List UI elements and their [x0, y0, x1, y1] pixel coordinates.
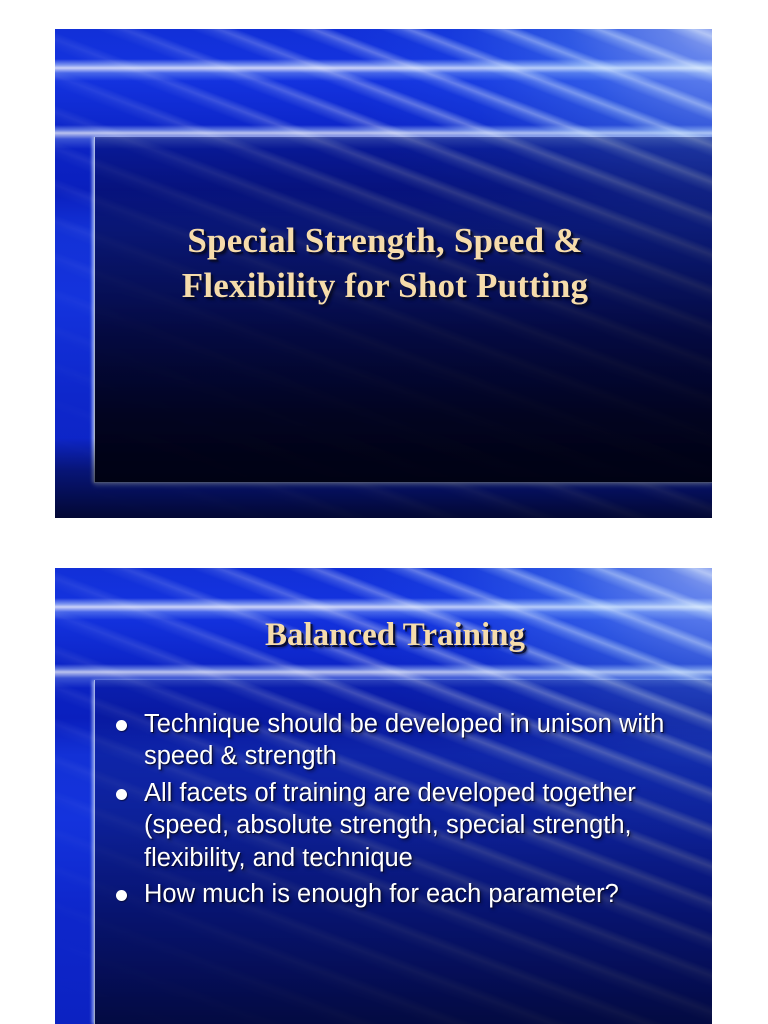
slide-2-heading: Balanced Training [95, 616, 695, 656]
list-item: Technique should be developed in unison … [110, 708, 670, 773]
handout-page: Special Strength, Speed & Flexibility fo… [0, 0, 768, 1024]
bullet-dot-icon [116, 890, 127, 901]
bullet-dot-icon [116, 789, 127, 800]
slide-2[interactable]: Balanced Training Technique should be de… [55, 568, 712, 1024]
list-item: All facets of training are developed tog… [110, 777, 670, 874]
bullet-text: All facets of training are developed tog… [144, 777, 670, 874]
bullet-dot-icon [116, 720, 127, 731]
slide-1-title-line-1: Special Strength, Speed & [115, 219, 655, 264]
slide-1-bottom-fade [55, 438, 712, 518]
list-item: How much is enough for each parameter? [110, 878, 670, 910]
slide-1-title-block: Special Strength, Speed & Flexibility fo… [115, 219, 655, 309]
slide-2-bullet-list: Technique should be developed in unison … [110, 708, 670, 914]
bullet-text: Technique should be developed in unison … [144, 708, 670, 773]
bullet-text: How much is enough for each parameter? [144, 878, 670, 910]
slide-2-heading-block: Balanced Training [95, 616, 695, 656]
slide-1[interactable]: Special Strength, Speed & Flexibility fo… [55, 29, 712, 518]
slide-1-title-panel [94, 137, 712, 483]
slide-1-title-line-2: Flexibility for Shot Putting [115, 264, 655, 309]
